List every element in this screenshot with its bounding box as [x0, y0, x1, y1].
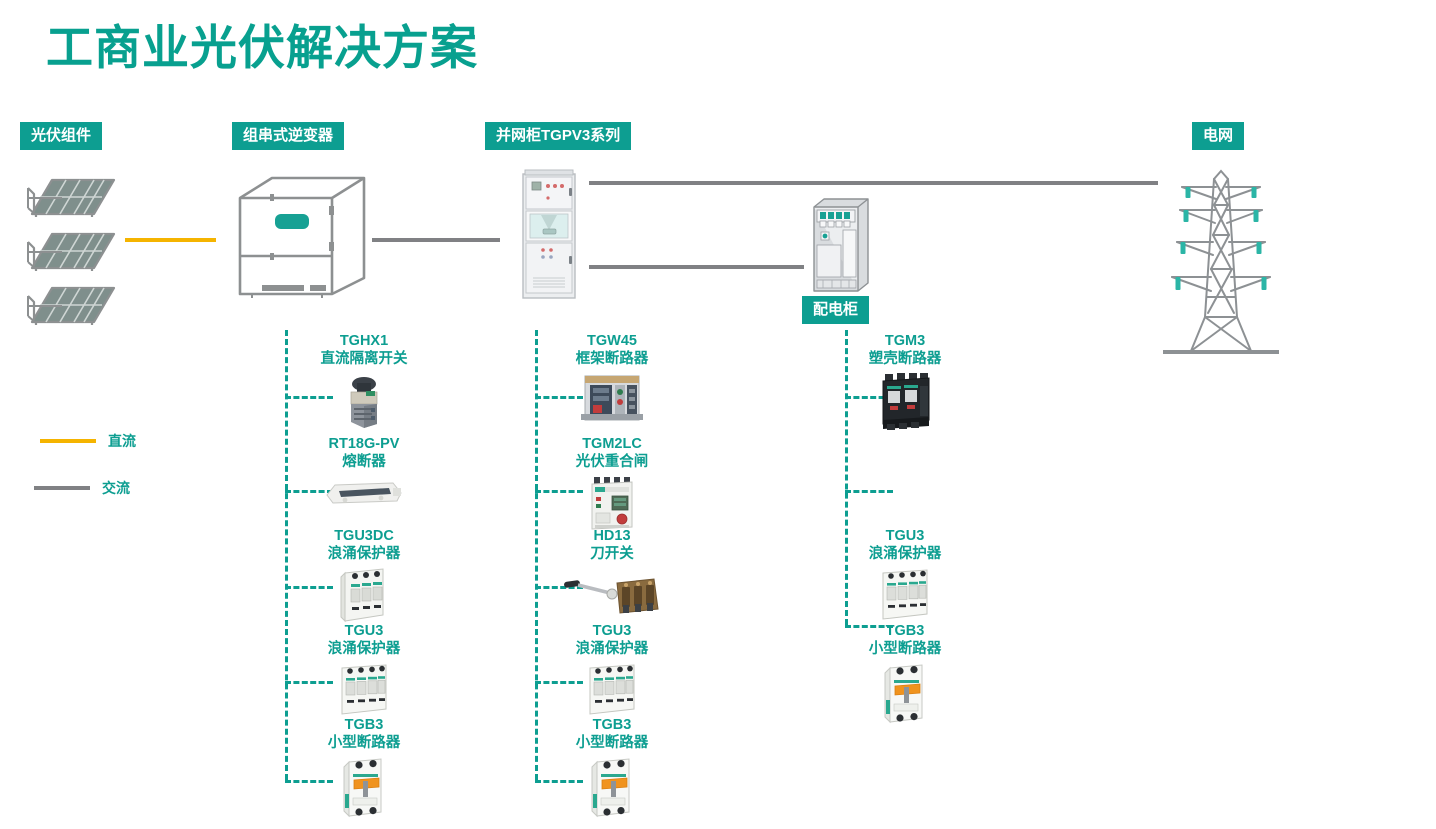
pv-panel-icon-3	[22, 276, 120, 328]
product-tgm2lc[interactable]: TGM2LC 光伏重合闸	[527, 435, 697, 533]
product-model: TGU3	[820, 527, 990, 545]
product-name: 小型断路器	[279, 734, 449, 752]
distribution-cabinet-icon	[808, 195, 872, 293]
product-tgu3dc[interactable]: TGU3DC 浪涌保护器	[279, 527, 449, 625]
product-name: 框架断路器	[527, 350, 697, 368]
product-name: 浪涌保护器	[279, 545, 449, 563]
product-model: TGW45	[527, 332, 697, 350]
product-name: 刀开关	[527, 545, 697, 563]
product-name: 小型断路器	[527, 734, 697, 752]
spd-3pole-icon	[279, 565, 449, 625]
ac-link-cabinet-to-grid	[589, 181, 1158, 185]
product-model: TGU3DC	[279, 527, 449, 545]
product-model: TGB3	[820, 622, 990, 640]
power-grid-tower-icon	[1158, 165, 1284, 360]
product-model: TGB3	[279, 716, 449, 734]
dc-isolator-icon	[279, 370, 449, 432]
product-model: TGB3	[527, 716, 697, 734]
product-name: 光伏重合闸	[527, 453, 697, 471]
product-tgu3-grid[interactable]: TGU3 浪涌保护器	[527, 622, 697, 718]
stage-badge-pv-modules[interactable]: 光伏组件	[20, 122, 102, 150]
product-tgu3-distribution[interactable]: TGU3 浪涌保护器	[820, 527, 990, 623]
mccb-icon	[820, 370, 990, 430]
product-model: TGM2LC	[527, 435, 697, 453]
product-tgb3-grid[interactable]: TGB3 小型断路器	[527, 716, 697, 820]
product-tgm3[interactable]: TGM3 塑壳断路器	[820, 332, 990, 430]
legend-label-dc: 直流	[108, 431, 136, 451]
product-model: TGU3	[527, 622, 697, 640]
stage-badge-grid-cabinet[interactable]: 并网柜TGPV3系列	[485, 122, 631, 150]
mcb-2pole-icon	[279, 754, 449, 820]
legend-swatch-ac	[34, 486, 90, 490]
product-model: TGU3	[279, 622, 449, 640]
knife-switch-icon	[527, 565, 697, 621]
dc-link-pv-to-inverter	[125, 238, 216, 242]
product-name: 浪涌保护器	[279, 640, 449, 658]
grid-cabinet-icon	[521, 168, 577, 300]
fuse-holder-icon	[279, 473, 449, 509]
product-hd13[interactable]: HD13 刀开关	[527, 527, 697, 621]
stage-badge-grid[interactable]: 电网	[1192, 122, 1244, 150]
product-tgw45[interactable]: TGW45 框架断路器	[527, 332, 697, 426]
diagram-canvas: 工商业光伏解决方案 光伏组件 组串式逆变器 并网柜TGPV3系列 配电柜 电网	[0, 0, 1436, 829]
ac-link-cabinet-to-distribution	[589, 265, 804, 269]
spd-4pole-icon	[820, 565, 990, 623]
product-name: 浪涌保护器	[820, 545, 990, 563]
pv-panel-icon-2	[22, 222, 120, 274]
legend-item-ac: 交流	[34, 478, 130, 498]
product-tghx1[interactable]: TGHX1 直流隔离开关	[279, 332, 449, 432]
legend-label-ac: 交流	[102, 478, 130, 498]
string-inverter-icon	[232, 168, 372, 298]
product-model: RT18G-PV	[279, 435, 449, 453]
product-name: 熔断器	[279, 453, 449, 471]
ac-link-inverter-to-grid-cabinet	[372, 238, 500, 242]
product-model: HD13	[527, 527, 697, 545]
product-tgu3-inverter[interactable]: TGU3 浪涌保护器	[279, 622, 449, 718]
mcb-2pole-icon	[820, 660, 990, 726]
product-name: 塑壳断路器	[820, 350, 990, 368]
product-name: 小型断路器	[820, 640, 990, 658]
recloser-icon	[527, 473, 697, 533]
acb-frame-icon	[527, 370, 697, 426]
product-model: TGHX1	[279, 332, 449, 350]
spd-4pole-icon	[527, 660, 697, 718]
stage-badge-distribution[interactable]: 配电柜	[802, 296, 869, 324]
page-title: 工商业光伏解决方案	[46, 22, 478, 74]
pv-panel-icon-1	[22, 168, 120, 220]
product-rt18g-pv[interactable]: RT18G-PV 熔断器	[279, 435, 449, 509]
stage-badge-inverter[interactable]: 组串式逆变器	[232, 122, 344, 150]
product-model: TGM3	[820, 332, 990, 350]
product-name: 直流隔离开关	[279, 350, 449, 368]
product-tgb3-inverter[interactable]: TGB3 小型断路器	[279, 716, 449, 820]
spd-4pole-icon	[279, 660, 449, 718]
product-name: 浪涌保护器	[527, 640, 697, 658]
mcb-2pole-icon	[527, 754, 697, 820]
legend-item-dc: 直流	[40, 431, 136, 451]
product-tgb3-distribution[interactable]: TGB3 小型断路器	[820, 622, 990, 726]
connector-branch-distribution-2	[845, 490, 893, 493]
legend-swatch-dc	[40, 439, 96, 443]
